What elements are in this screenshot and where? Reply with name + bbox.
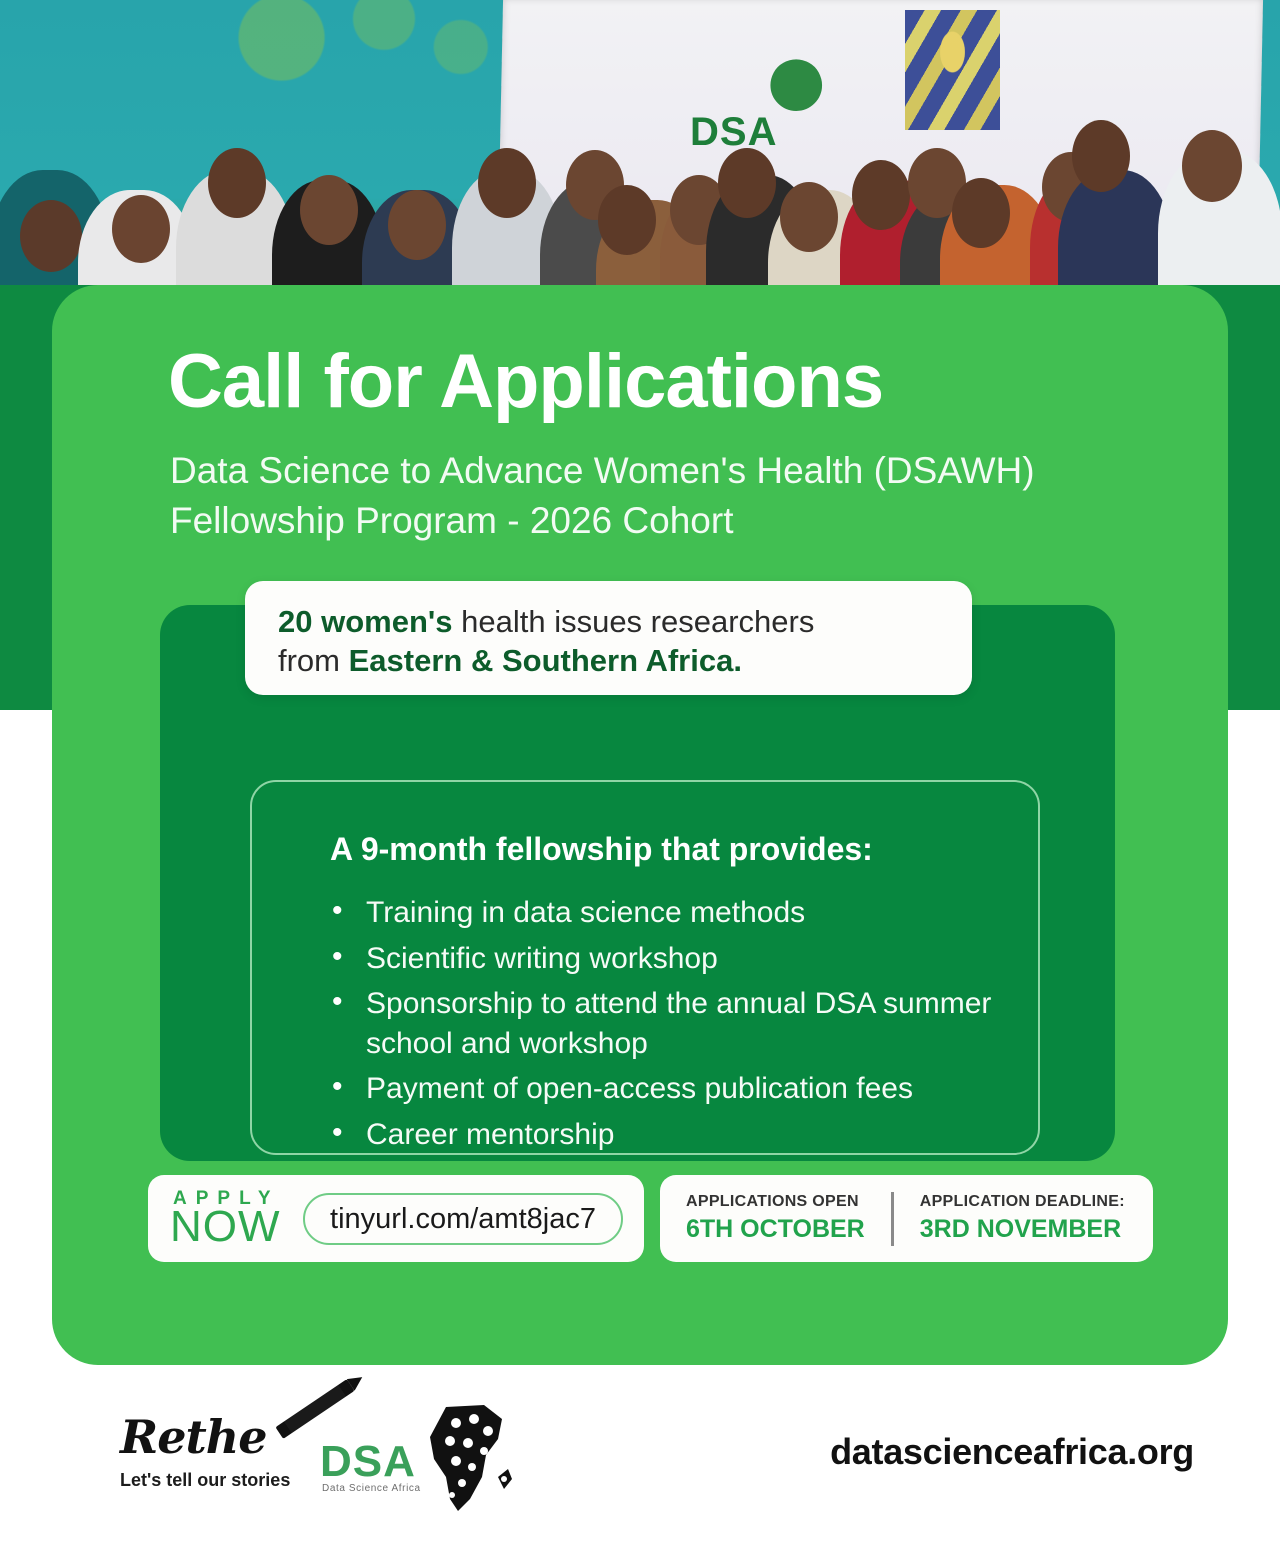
application-deadline-column: APPLICATION DEADLINE: 3RD NOVEMBER [894,1193,1151,1244]
person-head [598,185,656,255]
list-item: Training in data science methods [330,893,1050,933]
benefits-list: Training in data science methods Scienti… [330,893,1050,1161]
poster-root: ● DSA [0,0,1280,1547]
applications-open-value: 6TH OCTOBER [686,1215,865,1244]
banner-dsa-label: DSA [690,110,777,155]
person-head [388,190,446,260]
cohort-line1-rest: health issues researchers [453,604,815,639]
apply-now-bar[interactable]: APPLY NOW tinyurl.com/amt8jac7 [148,1175,644,1262]
person-head [1182,130,1242,202]
page-title: Call for Applications [168,344,883,420]
list-item: Payment of open-access publication fees [330,1069,1050,1109]
person-head [300,175,358,245]
dsa-wordmark: DSA [320,1437,416,1487]
person-head [1072,120,1130,192]
flag-crest-icon [905,10,1000,130]
person-head [852,160,910,230]
person-head [20,200,82,272]
list-item: Sponsorship to attend the annual DSA sum… [330,984,1050,1063]
website-url: datascienceafrica.org [830,1431,1194,1473]
list-item: Career mentorship [330,1115,1050,1155]
footer: Rethe Let's tell our stories DSA Data Sc… [0,1365,1280,1547]
provides-heading: A 9-month fellowship that provides: [330,831,873,868]
application-deadline-label: APPLICATION DEADLINE: [920,1193,1125,1211]
applications-open-column: APPLICATIONS OPEN 6TH OCTOBER [660,1193,891,1244]
dsa-logo: DSA Data Science Africa [320,1415,510,1515]
application-url-link[interactable]: tinyurl.com/amt8jac7 [303,1193,623,1245]
now-label: NOW [170,1205,281,1249]
page-subtitle: Data Science to Advance Women's Health (… [170,446,1130,547]
person-head [208,148,266,218]
list-item: Scientific writing workshop [330,939,1050,979]
dsa-sublabel: Data Science Africa [322,1483,421,1494]
cohort-region: Eastern & Southern Africa. [349,643,742,678]
cohort-highlight-box: 20 women's health issues researchers fro… [245,581,972,695]
person-head [780,182,838,252]
cohort-line2-prefix: from [278,643,349,678]
person-head [718,148,776,218]
application-deadline-value: 3RD NOVEMBER [920,1215,1125,1244]
cohort-count: 20 women's [278,604,453,639]
applications-open-label: APPLICATIONS OPEN [686,1193,865,1211]
main-green-card: Call for Applications Data Science to Ad… [52,285,1228,1365]
person-head [478,148,536,218]
cohort-highlight-text: 20 women's health issues researchers fro… [278,603,942,681]
person-head [952,178,1010,248]
person-head [112,195,170,263]
africa-network-icon [416,1403,516,1531]
dates-bar: APPLICATIONS OPEN 6TH OCTOBER APPLICATIO… [660,1175,1153,1262]
